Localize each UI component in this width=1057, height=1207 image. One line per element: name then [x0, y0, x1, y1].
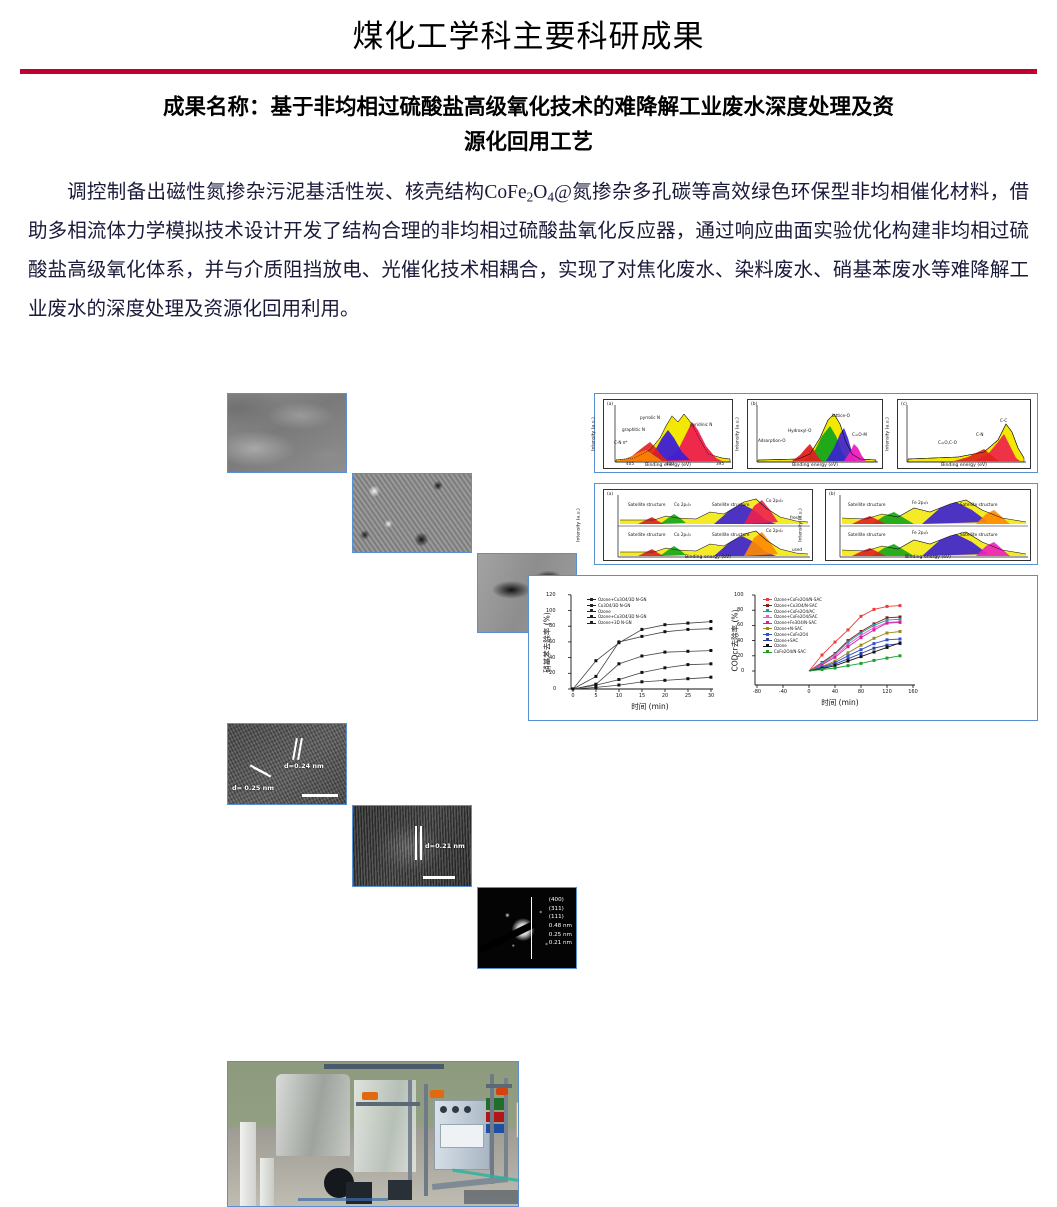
xps-ylabel-c: Intensity (a.u.): [885, 417, 890, 451]
xps-peak-fe-satellite-2: Satellite structure: [960, 502, 998, 507]
beam-stop: [478, 921, 536, 954]
cod-xtick-40: 40: [832, 689, 838, 695]
xps-peak-hydroxyl-o: Hydroxyl-O: [788, 428, 811, 433]
xps-peak-co2p32: Co 2p₃/₂: [766, 498, 783, 503]
xps-panel-c1s: (c) Intensity (a.u.) C=O,C-O C-N C-C Bin…: [897, 399, 1031, 469]
dspacing-label-024: d=0.24 nm: [284, 762, 324, 770]
nb-yaxis-label: 硝基苯去除率 (%): [542, 595, 553, 691]
desc-sub-4: 4: [547, 189, 554, 204]
xps-peak-satellite-2: Satellite structure: [712, 502, 750, 507]
xps-xlabel-b: Binding energy (eV): [748, 463, 882, 468]
xps-peak-co2p32-used: Co 2p₃/₂: [766, 528, 783, 533]
achievement-name-line2: 源化回用工艺: [56, 125, 1001, 160]
nb-xtick-25: 25: [685, 693, 691, 699]
cod-legend-label-9: CoFe2O4/N-SAC: [774, 649, 806, 655]
xps-peak-fe-satellite-3: Satellite structure: [848, 532, 886, 537]
cod-xtick-80: 80: [858, 689, 864, 695]
hrtem-lattice-2-image: d=0.21 nm: [352, 805, 472, 887]
xps-ylabel-b: Intensity (a.u.): [735, 417, 740, 451]
xps-ylabel-fe2p: Intensity (a.u.): [798, 508, 803, 542]
nb-xtick-0: 0: [571, 693, 574, 699]
page-title: 煤化工学科主要科研成果: [0, 0, 1057, 57]
xps-peak-c-n: C-N: [976, 432, 984, 437]
xps-peak-adsorption-o: Adsorption-O: [758, 438, 786, 443]
xps-panel-fe2p: (b) Intensity (a.u.) Satellite structur: [825, 489, 1031, 561]
nb-xtick-5: 5: [594, 693, 597, 699]
dspacing-label-025: d= 0.25 nm: [232, 784, 274, 792]
nb-xtick-20: 20: [662, 693, 668, 699]
nb-legend-label-4: Ozone+3D N-GN: [598, 620, 632, 626]
sem-sludge-carbon-image: [227, 393, 347, 473]
xps-peak-pyridinic-n: pyridinic N: [690, 422, 712, 427]
cod-xtick-160: 160: [908, 689, 918, 695]
desc-part-1: 调控制备出磁性氮掺杂污泥基活性炭、核壳结构CoFe: [67, 182, 527, 203]
xps-peak-co2p12: Co 2p₁/₂: [674, 502, 691, 507]
xps-peak-c-o: C=O,C-O: [938, 440, 957, 445]
saed-tick-labels: (400)(311)(111)0.48 nm0.25 nm0.21 nm: [549, 896, 572, 948]
xps-xlabel-a: Binding energy (eV): [604, 463, 732, 468]
nb-ytick-0: 0: [553, 686, 556, 692]
cod-xaxis-label: 时间 (min): [785, 697, 895, 708]
cod-xtick-120: 120: [882, 689, 892, 695]
xps-peak-satellite-4: Satellite structure: [712, 532, 750, 537]
saed-pattern-image: (400)(311)(111)0.48 nm0.25 nm0.21 nm: [477, 887, 577, 969]
figure-gallery: d=0.24 nm d= 0.25 nm d=0.21 nm (400)(311…: [0, 390, 1057, 732]
achievement-name-line1: 成果名称：基于非均相过硫酸盐高级氧化技术的难降解工业废水深度处理及资: [56, 90, 1001, 125]
desc-part-2: O: [533, 182, 547, 203]
xps-row2-frame: (a) Intensity (a.u.): [594, 483, 1038, 565]
xps-peak-fe2p12-used: Fe 2p₁/₂: [912, 530, 928, 535]
nb-xaxis-label: 时间 (min): [595, 701, 705, 712]
xps-peak-lattice-o: lattice-O: [832, 413, 850, 418]
cod-yaxis-label: CODcr去除率 (%): [730, 591, 741, 691]
cod-xtick-neg40: -40: [779, 689, 787, 695]
xps-panel-o1s: (b) Intensity (a.u.) lattice-O Hydroxyl-…: [747, 399, 883, 469]
xps-ylabel-a: Intensity (a.u.): [591, 417, 596, 451]
xps-peak-cn-pi: C-N π*: [614, 440, 628, 445]
nb-xtick-15: 15: [639, 693, 645, 699]
cod-xtick-neg80: -80: [753, 689, 761, 695]
pilot-plant-photo: [227, 1061, 519, 1207]
nb-legend: Ozone+Co3O4/3D N-GN Co3O4/3D N-GN Ozone …: [587, 597, 646, 626]
xps-label-used: used: [792, 547, 802, 552]
title-divider: [20, 69, 1037, 74]
xps-xlabel-co2p: Binding energy (eV): [604, 555, 812, 560]
xps-row1-frame: (a) Intensity (a.u.) pyrrolic N graphiti…: [594, 393, 1038, 473]
xps-ylabel-co2p: Intensity (a.u.): [576, 508, 581, 542]
achievement-description: 调控制备出磁性氮掺杂污泥基活性炭、核壳结构CoFe2O4@氮掺杂多孔碳等高效绿色…: [28, 173, 1029, 329]
xps-peak-satellite-1: Satellite structure: [628, 502, 666, 507]
xps-peak-fe-satellite-4: Satellite structure: [960, 532, 998, 537]
nb-xtick-10: 10: [616, 693, 622, 699]
xps-xlabel-fe2p: Binding energy (eV): [826, 555, 1030, 560]
xps-panel-n1s: (a) Intensity (a.u.) pyrrolic N graphiti…: [603, 399, 733, 469]
cod-ytick-0: 0: [741, 668, 744, 674]
nb-xtick-30: 30: [708, 693, 714, 699]
nb-legend-item-4: Ozone+3D N-GN: [587, 620, 646, 626]
performance-charts-frame: 0 20 40 60 80 100 120 0 5 10 15 20 25 30…: [528, 575, 1038, 721]
xps-peak-satellite-3: Satellite structure: [628, 532, 666, 537]
xps-peak-co2p12-used: Co 2p₁/₂: [674, 532, 691, 537]
xps-peak-c-c: C-C: [1000, 418, 1007, 423]
cod-legend-item-9: CoFe2O4/N-SAC: [763, 649, 822, 655]
xps-peak-fe-satellite-1: Satellite structure: [848, 502, 886, 507]
hrtem-lattice-1-image: d=0.24 nm d= 0.25 nm: [227, 723, 347, 805]
xps-peak-graphitic-n: graphitic N: [622, 427, 645, 432]
xps-peak-c-o-m: C=O-M: [852, 432, 867, 437]
cod-legend: Ozone+CoFe2O4/N-SAC Ozone+Co3O4/N-SAC Oz…: [763, 597, 822, 655]
achievement-name: 成果名称：基于非均相过硫酸盐高级氧化技术的难降解工业废水深度处理及资 源化回用工…: [56, 90, 1001, 161]
xps-peak-pyrrolic-n: pyrrolic N: [640, 415, 660, 420]
xps-peak-fe2p12: Fe 2p₁/₂: [912, 500, 928, 505]
nitrobenzene-removal-chart: 0 20 40 60 80 100 120 0 5 10 15 20 25 30…: [535, 581, 725, 715]
xps-panel-co2p: (a) Intensity (a.u.): [603, 489, 813, 561]
dspacing-label-021: d=0.21 nm: [425, 842, 465, 850]
xps-xlabel-c: Binding energy (eV): [898, 463, 1030, 468]
sem-porous-carbon-image: [352, 473, 472, 553]
cod-xtick-0: 0: [807, 689, 810, 695]
cod-removal-chart: 0 20 40 60 80 100 -80 -40 0 40 80 120 16…: [725, 581, 925, 715]
